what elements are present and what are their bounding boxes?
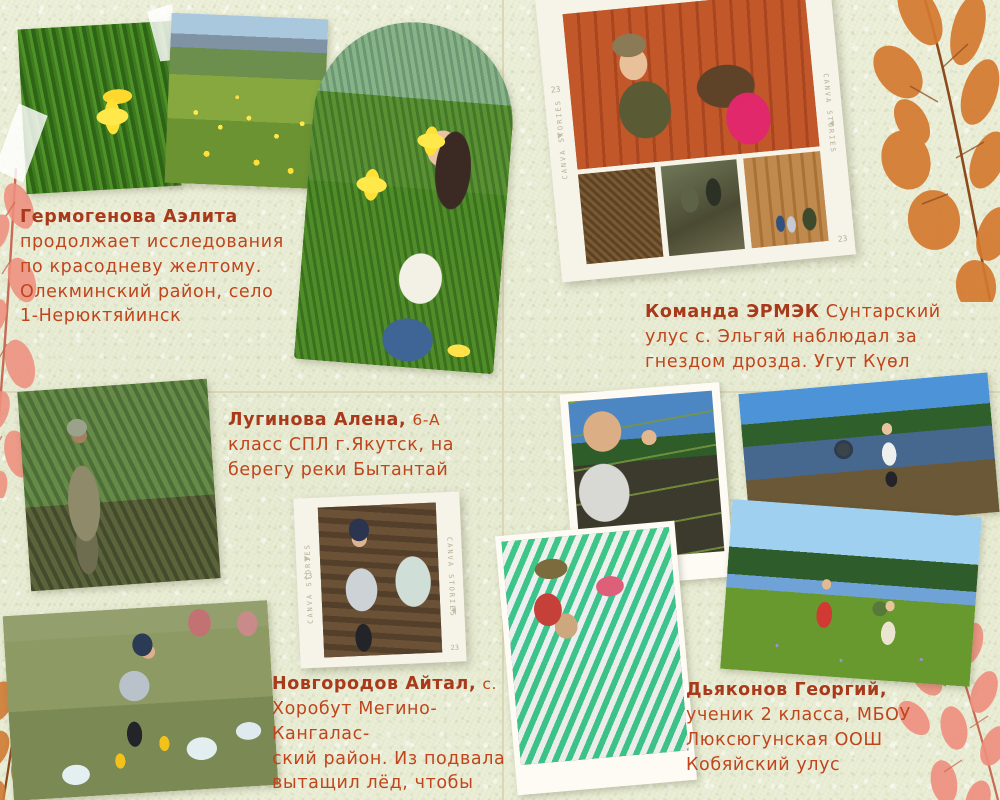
caption-germogenova-name: Гермогенова Аэлита [20,207,238,227]
caption-novgorodov-name: Новгородов Айтал, [272,674,476,694]
caption-luginova-line-1: 6-А [412,411,440,429]
photo-luginova-forest[interactable] [17,379,220,592]
caption-luginova-name: Лугинова Алена, [228,410,406,430]
caption-germogenova-line-3: Олекминский район, село [20,282,273,302]
photo-boy-ice-hoodie-image [318,502,442,657]
caption-novgorodov: Новгородов Айтал, с. Хоробут Мегино-Канг… [272,672,527,800]
film-number-left: 23 [550,85,560,95]
caption-ermek-line-1: Сунтарский [826,302,941,322]
caption-dyakonov-line-3: Кобяйский улус [686,755,840,775]
photo-luginova-forest-image [17,379,220,592]
photo-daylily-field[interactable] [165,13,329,189]
photo-nest-thumb-2 [660,159,745,256]
caption-dyakonov-name: Дьяконов Георгий, [686,680,887,700]
photo-girl-flowers[interactable] [294,15,520,375]
caption-ermek-name: Команда ЭРМЭК [645,302,820,322]
photo-boy-chopping-ice[interactable] [3,600,279,800]
caption-novgorodov-line-2: Хоробут Мегино-Кангалас- [272,699,437,744]
caption-luginova-line-2: класс СПЛ г.Якутск, на [228,435,454,455]
photo-boy-chopping-ice-image [3,600,279,800]
caption-dyakonov-line-2: Люксюгунская ООШ [686,730,883,750]
caption-ermek-line-3: гнездом дрозда. Угут Күөл [645,352,910,372]
caption-germogenova-line-4: 1-Нерюктяйинск [20,306,181,326]
film-triangle-left-2 [304,556,309,562]
caption-germogenova-line-2: по красодневу желтому. [20,257,262,277]
film-triangle-right [829,120,835,126]
caption-novgorodov-line-3: ский район. Из подвала [272,749,505,769]
caption-novgorodov-line-1: с. [482,675,497,693]
film-number-right-2: 23 [450,644,459,652]
photo-nest-thumb-3 [744,151,829,248]
caption-ermek: Команда ЭРМЭК Сунтарский улус с. Эльгяй … [645,300,975,375]
film-triangle-left [557,132,563,138]
photo-daylily-field-image [165,13,329,189]
photo-nest-boy-image [563,0,820,169]
photo-girl-flowers-image [294,15,520,375]
caption-dyakonov: Дьяконов Георгий, ученик 2 класса, МБОУ … [686,678,976,777]
caption-germogenova-line-1: продолжает исследования [20,232,284,252]
photo-nest-collage[interactable]: CANVA STORIES CANVA STORIES 23 23 [535,0,856,282]
collage-canvas: CANVA STORIES CANVA STORIES 23 23 Гермог… [0,0,1000,800]
caption-germogenova: Гермогенова Аэлита продолжает исследован… [20,205,320,329]
film-number-right: 23 [837,234,847,244]
film-number-left-2: 23 [304,572,313,580]
photo-two-kids-meadow[interactable] [720,499,982,687]
caption-ermek-line-2: улус с. Эльгяй наблюдал за [645,327,917,347]
film-triangle-right-2 [451,607,456,613]
photo-kids-pond-image [502,527,689,765]
photo-nest-thumb-1 [578,167,663,264]
caption-novgorodov-line-4: вытащил лёд, чтобы [272,773,473,793]
photo-boy-ice-hoodie[interactable]: CANVA STORIES CANVA STORIES 23 23 [293,491,466,668]
caption-luginova: Лугинова Алена, 6-А класс СПЛ г.Якутск, … [228,408,508,483]
caption-dyakonov-line-1: ученик 2 класса, МБОУ [686,705,911,725]
photo-two-kids-meadow-image [720,499,982,687]
caption-luginova-line-3: берегу реки Бытантай [228,460,448,480]
